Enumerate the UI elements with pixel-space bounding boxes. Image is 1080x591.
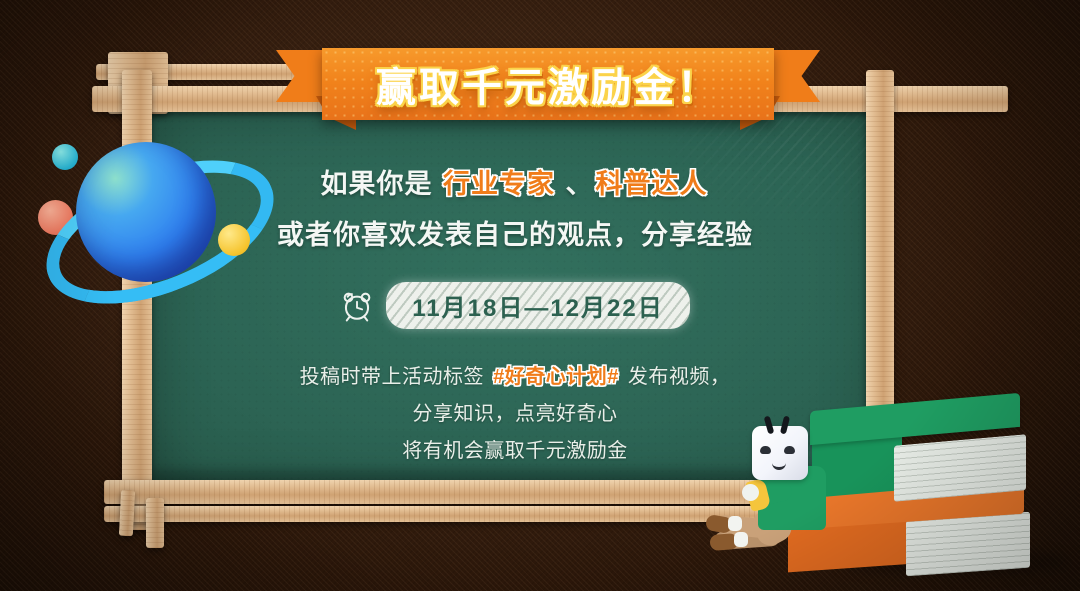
body-line-3: 将有机会赢取千元激励金 bbox=[300, 433, 731, 470]
headline-accent-popularizer: 科普达人 bbox=[594, 169, 710, 199]
mascot-ear-right bbox=[780, 416, 790, 435]
body-line-1: 投稿时带上活动标签 #好奇心计划# 发布视频， bbox=[300, 359, 731, 396]
body-line-1-prefix: 投稿时带上活动标签 bbox=[300, 366, 491, 388]
mascot-sock-back bbox=[734, 532, 748, 547]
promo-banner: 赢取千元激励金！ 如果你是 行业专家 、科普达人 或者你喜欢发表自己的观点，分享… bbox=[0, 0, 1080, 591]
headline-line-2: 或者你喜欢发表自己的观点，分享经验 bbox=[277, 213, 753, 252]
mascot-sock-front bbox=[728, 516, 742, 531]
small-yellow-orb-icon bbox=[218, 224, 250, 256]
headline-line-1: 如果你是 行业专家 、科普达人 bbox=[320, 162, 709, 201]
mascot-eye-left bbox=[760, 446, 771, 454]
event-date-text: 11月18日—12月22日 bbox=[412, 295, 663, 322]
headline-prefix: 如果你是 bbox=[320, 169, 441, 199]
frame-leg-left bbox=[146, 498, 164, 548]
green-book-pages bbox=[894, 434, 1026, 502]
event-date-pill: 11月18日—12月22日 bbox=[386, 282, 689, 329]
alarm-clock-icon bbox=[340, 289, 374, 323]
small-cyan-orb-icon bbox=[52, 144, 78, 170]
mascot-hand bbox=[742, 484, 759, 501]
campaign-hashtag: #好奇心计划# bbox=[490, 366, 622, 388]
headline-accent-expert: 行业专家 bbox=[441, 169, 557, 199]
mascot-mouth bbox=[772, 459, 786, 470]
mascot-ear-left bbox=[764, 416, 775, 435]
body-line-1-suffix: 发布视频， bbox=[622, 366, 731, 388]
body-text-block: 投稿时带上活动标签 #好奇心计划# 发布视频， 分享知识，点亮好奇心 将有机会赢… bbox=[300, 359, 731, 470]
mascot-eye-right bbox=[784, 446, 795, 454]
space-decoration bbox=[10, 120, 260, 340]
mascot-head bbox=[752, 426, 808, 480]
headline-separator: 、 bbox=[557, 169, 594, 199]
frame-leg-left-outer bbox=[119, 490, 135, 537]
event-date-row: 11月18日—12月22日 bbox=[340, 282, 689, 329]
books-and-mascot-scene bbox=[700, 398, 1080, 591]
orange-book-pages bbox=[906, 512, 1030, 577]
body-line-2: 分享知识，点亮好奇心 bbox=[300, 396, 731, 433]
bilibili-tv-mascot-icon bbox=[712, 422, 862, 562]
